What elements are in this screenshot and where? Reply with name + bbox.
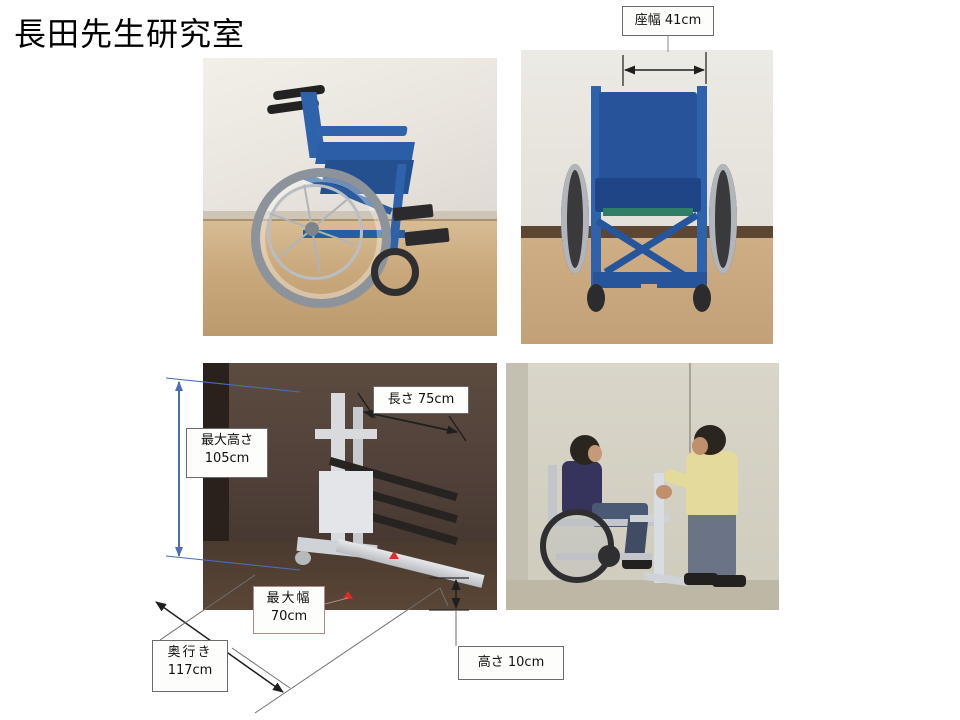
helper-face	[692, 437, 708, 455]
callout-length-text: 長さ 75cm	[380, 390, 462, 410]
callout-seat-width-text: 座幅 41cm	[629, 10, 707, 32]
red-marker-arrow-icon	[389, 551, 399, 559]
wheelchair-caster-right	[693, 284, 711, 312]
wheelchair-caster-wheel	[598, 545, 620, 567]
callout-seat-width: 座幅 41cm	[622, 6, 714, 36]
wheelchair-front-illustration	[577, 86, 723, 316]
callout-height: 高さ 10cm	[458, 646, 564, 680]
wheelchair-rear-wheel-left	[561, 164, 589, 274]
lift-ramp	[336, 539, 485, 588]
photo-pillar	[506, 363, 528, 610]
callout-max-height-label: 最大高さ	[193, 432, 261, 450]
page-title: 長田先生研究室	[14, 14, 245, 54]
callout-depth: 奥行き 117cm	[152, 640, 228, 692]
helper-hand	[656, 485, 672, 499]
wheelchair-caster-left	[587, 284, 605, 312]
callout-max-height: 最大高さ 105cm	[186, 428, 268, 478]
seated-person-face	[588, 445, 602, 462]
wheelchair-seat-pad	[595, 178, 701, 212]
wheelchair-green-bar	[603, 208, 693, 216]
slide-canvas: 長田先生研究室	[0, 0, 960, 720]
lift-top-cross-member	[315, 429, 377, 439]
transfer-scene-illustration	[526, 423, 776, 603]
wheelchair-footplate	[404, 228, 449, 247]
wheelchair-side-illustration	[243, 80, 473, 310]
photo-wheelchair-side-view	[203, 58, 497, 336]
photo-wheelchair-front-view	[521, 50, 773, 344]
wheelchair-footplate-upper	[392, 204, 433, 221]
callout-depth-value: 117cm	[159, 662, 221, 680]
callout-max-width-value: 70cm	[260, 608, 318, 626]
wheelchair-push-handle	[273, 84, 326, 100]
callout-max-height-value: 105cm	[193, 450, 261, 468]
lift-device-illustration	[279, 393, 479, 593]
wheelchair-cross-brace-2	[604, 212, 699, 275]
wheelchair-armrest	[314, 126, 407, 136]
lift-device-foot	[644, 572, 689, 586]
wheelchair-footrest-right	[657, 282, 699, 288]
callout-depth-label: 奥行き	[159, 644, 221, 662]
lift-caster	[295, 551, 311, 565]
wheelchair-backrest	[599, 92, 697, 184]
red-marker-arrow-icon	[343, 591, 353, 599]
wheelchair-caster-wheel	[371, 248, 419, 296]
helper-legs	[688, 511, 736, 577]
wheelchair-rear-wheel-right	[709, 164, 737, 274]
callout-height-text: 高さ 10cm	[465, 650, 557, 676]
lift-device-arm	[630, 515, 670, 522]
lift-carriage	[319, 471, 373, 533]
callout-max-width-label: 最大幅	[260, 590, 318, 608]
wheelchair-footrest-left	[599, 282, 641, 288]
wheelchair-wheel-hub	[305, 222, 319, 236]
helper-shoe-right	[712, 575, 746, 587]
photo-transfer-demonstration	[506, 363, 779, 610]
callout-max-width: 最大幅 70cm	[253, 586, 325, 634]
callout-length: 長さ 75cm	[373, 386, 469, 414]
